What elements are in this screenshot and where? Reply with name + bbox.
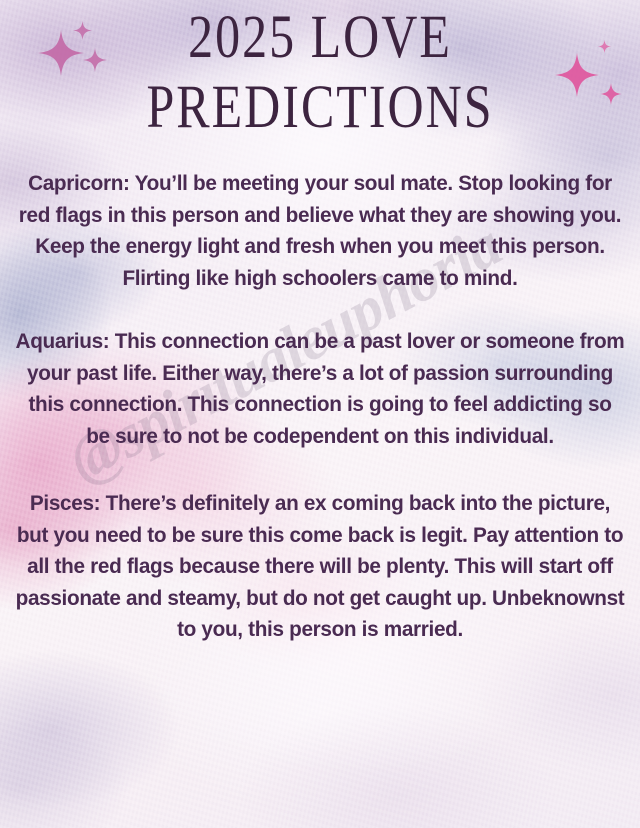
title-line-2: PREDICTIONS: [0, 76, 640, 137]
predictions-list: Capricorn: You’ll be meeting your soul m…: [0, 168, 640, 646]
title-line-1: 2025 LOVE: [0, 6, 640, 67]
prediction-capricorn: Capricorn: You’ll be meeting your soul m…: [15, 168, 625, 294]
page-title: 2025 LOVE PREDICTIONS: [0, 6, 640, 126]
poster-content: 2025 LOVE PREDICTIONS Capricorn: You’ll …: [0, 0, 640, 828]
prediction-pisces: Pisces: There’s definitely an ex coming …: [15, 488, 625, 646]
love-predictions-poster: @spiritualeuphoria 2025 LOVE PREDICTIONS…: [0, 0, 640, 828]
prediction-aquarius: Aquarius: This connection can be a past …: [15, 326, 625, 452]
